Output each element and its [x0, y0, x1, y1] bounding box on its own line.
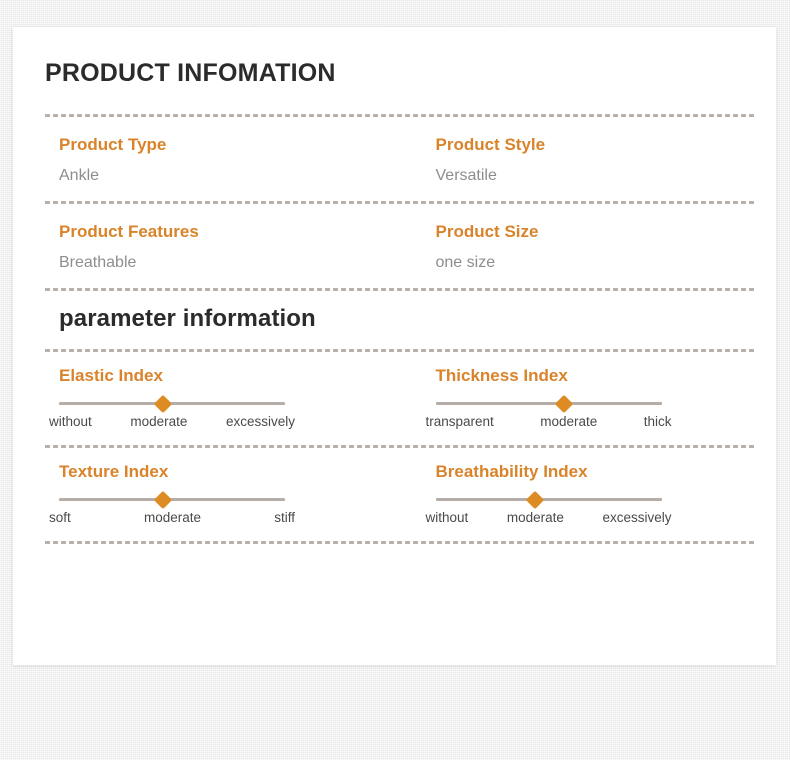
info-value: Ankle — [59, 167, 408, 185]
parameter-texture-index: Texture Index soft moderate stiff — [59, 462, 408, 525]
slider-label-low: transparent — [426, 414, 494, 429]
slider-label-mid: moderate — [507, 510, 564, 525]
slider-thumb-diamond-icon[interactable] — [154, 394, 172, 412]
slider-track[interactable] — [59, 402, 285, 405]
parameter-row: Texture Index soft moderate stiff Breath… — [45, 448, 756, 541]
slider-thumb-diamond-icon[interactable] — [526, 490, 544, 508]
slider-scale-labels: soft moderate stiff — [49, 510, 295, 525]
info-label: Product Style — [436, 135, 757, 155]
slider-label-mid: moderate — [540, 414, 597, 429]
product-information-card: PRODUCT INFOMATION Product Type Ankle Pr… — [13, 27, 776, 665]
slider-texture-index[interactable]: soft moderate stiff — [59, 498, 285, 525]
slider-thumb-diamond-icon[interactable] — [555, 394, 573, 412]
page-title: PRODUCT INFOMATION — [45, 27, 756, 114]
parameter-thickness-index: Thickness Index transparent moderate thi… — [408, 366, 757, 429]
info-label: Product Size — [436, 222, 757, 242]
slider-label-mid: moderate — [144, 510, 201, 525]
slider-label-high: excessively — [602, 510, 671, 525]
info-label: Product Type — [59, 135, 408, 155]
info-cell-product-style: Product Style Versatile — [408, 135, 757, 185]
info-value: Versatile — [436, 167, 757, 185]
slider-track[interactable] — [436, 402, 662, 405]
parameter-breathability-index: Breathability Index without moderate exc… — [408, 462, 757, 525]
info-value: Breathable — [59, 254, 408, 272]
info-value: one size — [436, 254, 757, 272]
slider-label-high: excessively — [226, 414, 295, 429]
info-row: Product Type Ankle Product Style Versati… — [45, 117, 756, 201]
parameter-elastic-index: Elastic Index without moderate excessive… — [59, 366, 408, 429]
slider-label-low: without — [49, 414, 92, 429]
divider-parameter-row-2 — [45, 541, 756, 544]
slider-label-low: without — [426, 510, 469, 525]
info-cell-product-type: Product Type Ankle — [59, 135, 408, 185]
slider-label-high: stiff — [274, 510, 295, 525]
info-cell-product-features: Product Features Breathable — [59, 222, 408, 272]
section-title-parameter-information: parameter information — [45, 291, 756, 349]
slider-label-mid: moderate — [130, 414, 187, 429]
info-cell-product-size: Product Size one size — [408, 222, 757, 272]
parameter-row: Elastic Index without moderate excessive… — [45, 352, 756, 445]
info-row: Product Features Breathable Product Size… — [45, 204, 756, 288]
slider-thumb-diamond-icon[interactable] — [154, 490, 172, 508]
parameter-label: Texture Index — [59, 462, 408, 482]
slider-scale-labels: without moderate excessively — [49, 414, 295, 429]
slider-label-low: soft — [49, 510, 71, 525]
slider-track[interactable] — [436, 498, 662, 501]
slider-scale-labels: transparent moderate thick — [426, 414, 672, 429]
info-label: Product Features — [59, 222, 408, 242]
slider-elastic-index[interactable]: without moderate excessively — [59, 402, 285, 429]
slider-thickness-index[interactable]: transparent moderate thick — [436, 402, 662, 429]
parameter-label: Breathability Index — [436, 462, 757, 482]
parameter-label: Thickness Index — [436, 366, 757, 386]
slider-scale-labels: without moderate excessively — [426, 510, 672, 525]
slider-breathability-index[interactable]: without moderate excessively — [436, 498, 662, 525]
slider-track[interactable] — [59, 498, 285, 501]
card-inner: PRODUCT INFOMATION Product Type Ankle Pr… — [45, 27, 756, 665]
parameter-label: Elastic Index — [59, 366, 408, 386]
slider-label-high: thick — [644, 414, 672, 429]
